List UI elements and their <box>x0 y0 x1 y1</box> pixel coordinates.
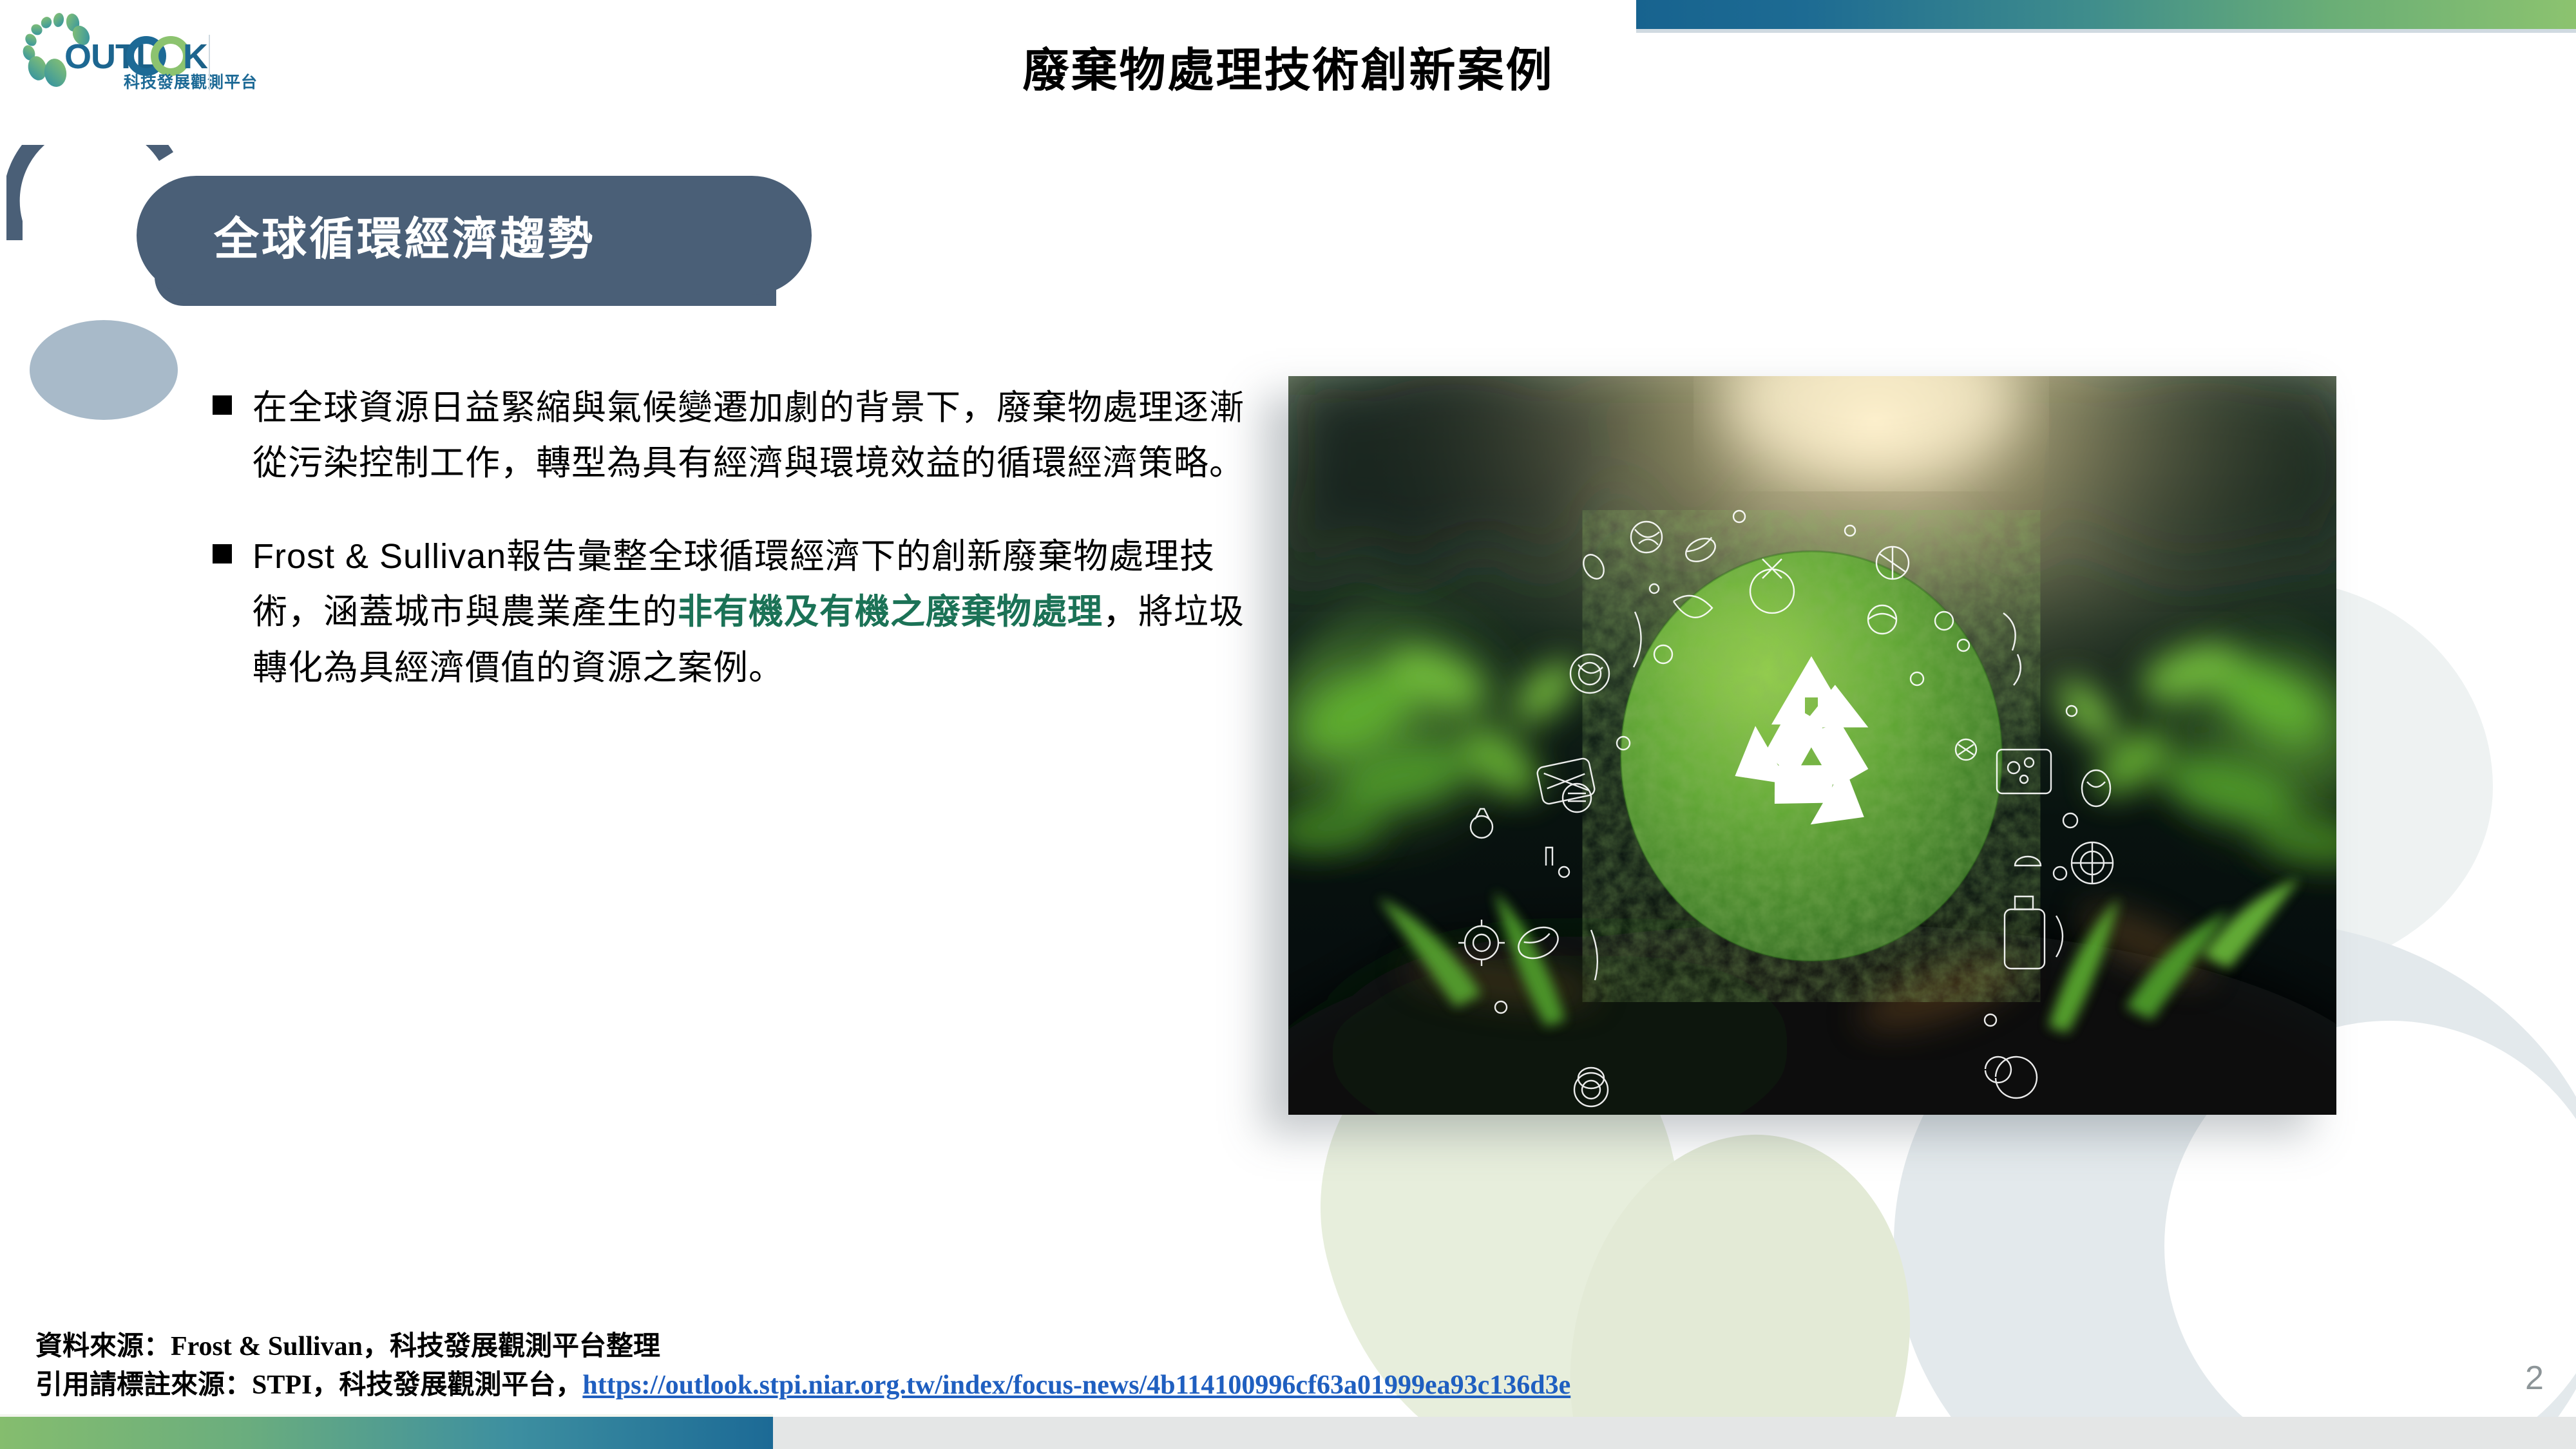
bullet-text-2: Frost & Sullivan報告彙整全球循環經濟下的創新廢棄物處理技術，涵蓋… <box>253 529 1256 696</box>
footer-citation-line: 引用請標註來源：STPI，科技發展觀測平台，https://outlook.st… <box>35 1367 2226 1405</box>
section-banner: 全球循環經濟趨勢 <box>137 176 812 295</box>
footer-source-value: Frost & Sullivan，科技發展觀測平台整理 <box>171 1332 660 1361</box>
footer-source-url-link[interactable]: https://outlook.stpi.niar.org.tw/index/f… <box>582 1370 1570 1400</box>
page-number: 2 <box>2525 1359 2544 1397</box>
bullet-item: 在全球資源日益緊縮與氣候變遷加劇的背景下，廢棄物處理逐漸從污染控制工作，轉型為具… <box>213 380 1256 491</box>
outlook-logo-icon: OUTL K 科技發展觀測平台 <box>14 12 272 95</box>
section-header-label: 全球循環經濟趨勢 <box>214 203 595 268</box>
bullet-2-highlight: 非有機及有機之廢棄物處理 <box>678 592 1103 631</box>
bullet-square-icon <box>213 544 232 563</box>
bottom-gradient-bar <box>0 1417 773 1449</box>
footer-citation-label: 引用請標註來源： <box>35 1370 252 1400</box>
footer-source-line: 資料來源：Frost & Sullivan，科技發展觀測平台整理 <box>35 1328 2226 1367</box>
footer-citation-value: STPI，科技發展觀測平台， <box>252 1370 582 1400</box>
bullet-1-segment-0: 在全球資源日益緊縮與氣候變遷加劇的背景下，廢棄物處理逐漸從污染控制工作，轉型為具… <box>253 388 1245 482</box>
outlook-logo[interactable]: OUTL K 科技發展觀測平台 <box>14 12 272 95</box>
top-gradient-bar <box>1636 0 2576 29</box>
svg-text:科技發展觀測平台: 科技發展觀測平台 <box>124 73 258 91</box>
figure-illustration <box>1288 376 2336 1115</box>
section-header-group: 全球循環經濟趨勢 <box>0 145 850 306</box>
decorative-circle <box>30 320 178 420</box>
slide-root: OUTL K 科技發展觀測平台 廢棄物處理技術創新案例 全球循環經濟趨勢 在全球… <box>0 0 2576 1449</box>
bullet-text-1: 在全球資源日益緊縮與氣候變遷加劇的背景下，廢棄物處理逐漸從污染控制工作，轉型為具… <box>253 380 1256 491</box>
footer-source-label: 資料來源： <box>35 1332 171 1361</box>
svg-text:K: K <box>183 37 208 76</box>
page-title: 廢棄物處理技術創新案例 <box>709 32 1868 100</box>
bullet-square-icon <box>213 395 232 415</box>
figure-recycling-photo <box>1288 376 2336 1115</box>
footer: 資料來源：Frost & Sullivan，科技發展觀測平台整理 引用請標註來源… <box>35 1328 2226 1405</box>
body-content: 在全球資源日益緊縮與氣候變遷加劇的背景下，廢棄物處理逐漸從污染控制工作，轉型為具… <box>213 380 1256 733</box>
bullet-item: Frost & Sullivan報告彙整全球循環經濟下的創新廢棄物處理技術，涵蓋… <box>213 529 1256 696</box>
